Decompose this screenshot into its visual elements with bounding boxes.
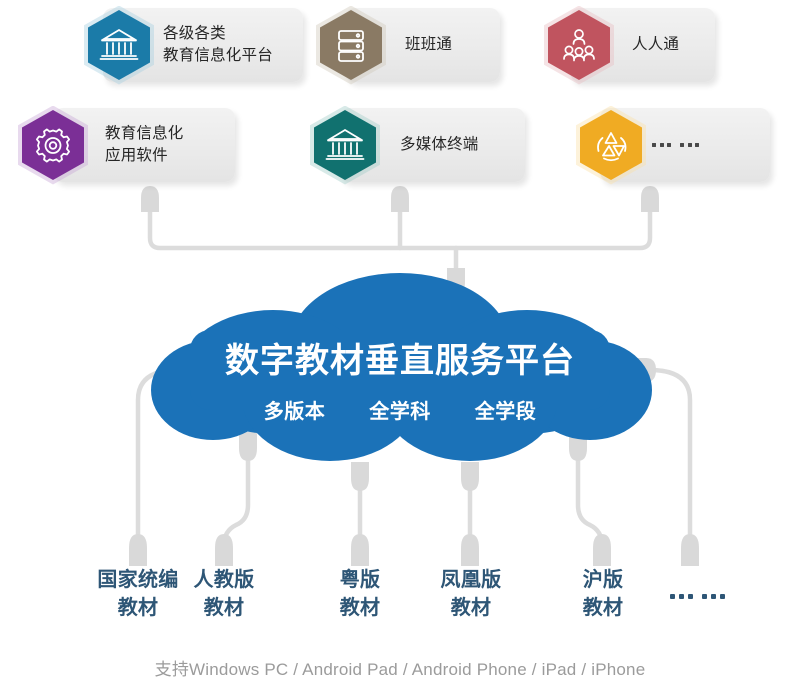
source-icon-banbantong [320,10,382,80]
plug-bottom-2 [215,534,233,566]
cloud-tags: 多版本 全学科 全学段 [0,395,800,424]
source-icon-multimedia [314,110,376,180]
source-card-label: 多媒体终端 [400,134,479,156]
ellipsis-group [702,594,725,599]
plug-down-cloud [447,268,465,294]
plug-up-middle [391,186,409,212]
textbook-label-yue[interactable]: 粤版 教材 [313,566,407,623]
plug-bottom-6 [681,534,699,566]
source-card-label: 人人通 [632,34,679,56]
plug-bottom-1 [129,534,147,566]
textbook-label-renjiao[interactable]: 人教版 教材 [177,566,271,623]
source-icon-platform [88,10,150,80]
ellipsis-group [680,143,699,147]
diagram-canvas: 各级各类 教育信息化平台 班班通 [0,0,800,690]
source-icon-more [580,110,642,180]
source-icon-appsoftware [22,110,84,180]
plug-bottom-5 [593,534,611,566]
textbook-label-hu[interactable]: 沪版 教材 [556,566,650,623]
footer-support-text: 支持Windows PC / Android Pad / Android Pho… [0,655,800,680]
plug-group-top [141,186,659,212]
ellipsis-group [652,143,671,147]
plug-up-left [141,186,159,212]
cloud-tag: 全学科 [369,395,431,424]
ellipsis-group [670,594,693,599]
plug-under-3 [351,462,369,491]
plug-up-right [641,186,659,212]
plug-under-4 [461,462,479,491]
textbook-label-more[interactable] [670,594,725,599]
wire-drop-2 [224,440,248,553]
cloud-tag: 全学段 [475,395,537,424]
cloud-tag: 多版本 [264,395,326,424]
source-icon-renrentong [548,10,610,80]
plug-under-5 [569,432,587,461]
top-bus-wire [150,205,650,248]
source-card-label: 各级各类 教育信息化平台 [163,23,273,68]
ellipsis-dots [652,143,699,147]
plug-under-2 [239,432,257,461]
source-card-label: 教育信息化 应用软件 [105,123,184,168]
plug-bottom-4 [461,534,479,566]
textbook-label-fenghuang[interactable]: 凤凰版 教材 [424,566,518,623]
plug-group-cloud-feed [447,268,465,294]
plug-group-cloud-under [239,432,587,491]
source-card-label: 班班通 [405,34,452,56]
cloud-title: 数字教材垂直服务平台 [0,333,800,382]
plug-bottom-3 [351,534,369,566]
plug-group-bottom [129,534,699,566]
wire-drop-5 [578,440,602,553]
